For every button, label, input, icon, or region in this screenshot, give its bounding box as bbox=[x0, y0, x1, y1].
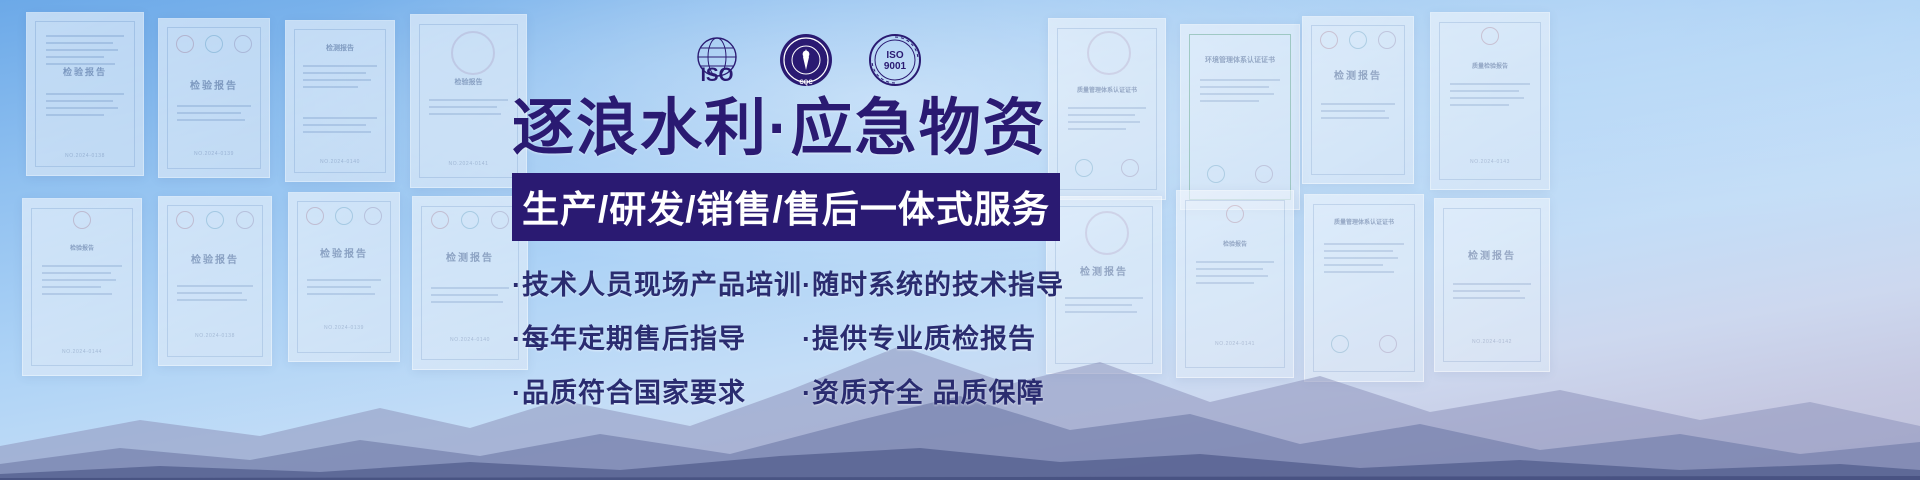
svg-text:ISO: ISO bbox=[701, 65, 734, 86]
benefit-item: ·随时系统的技术指导 bbox=[802, 263, 1062, 302]
certificate-title: 质量检验报告 bbox=[1431, 61, 1549, 70]
svg-text:9001: 9001 bbox=[884, 61, 907, 72]
certificate-subtitle: NO.2024-0141 bbox=[1177, 341, 1293, 347]
certificate-title: 检验报告 bbox=[289, 245, 399, 260]
promo-banner: 检验报告 NO.2024-0138 检验报告 NO.2024-0139 检测报告… bbox=[0, 0, 1920, 480]
banner-copy: 逐浪水利·应急物资 生产/研发/销售/售后一体式服务 ·技术人员现场产品培训 ·… bbox=[512, 96, 1092, 425]
certification-badges: ISO CQC ISO 9001 bbox=[690, 32, 922, 88]
certificate-card: 检测报告 NO.2024-0142 bbox=[1434, 198, 1550, 372]
certificate-subtitle: NO.2024-0140 bbox=[413, 337, 527, 343]
certificate-card: 环境管理体系认证证书 bbox=[1180, 24, 1300, 210]
benefit-list: ·技术人员现场产品培训 ·随时系统的技术指导 ·每年定期售后指导 ·提供专业质检… bbox=[512, 263, 1092, 410]
certificate-title: 检验报告 bbox=[23, 243, 141, 252]
benefit-row: ·技术人员现场产品培训 ·随时系统的技术指导 bbox=[512, 263, 1092, 302]
certificate-card: 检验报告 NO.2024-0139 bbox=[158, 18, 270, 178]
svg-text:ISO: ISO bbox=[886, 50, 903, 61]
banner-subtitle-bar: 生产/研发/销售/售后一体式服务 bbox=[512, 173, 1060, 241]
certificate-title: 检验报告 bbox=[159, 251, 271, 266]
certificate-card: 检验报告 NO.2024-0141 bbox=[410, 14, 527, 188]
certificate-card: 检验报告 NO.2024-0138 bbox=[158, 196, 272, 366]
certificate-title: 检测报告 bbox=[413, 249, 527, 264]
iso-9001-badge: ISO 9001 bbox=[868, 33, 922, 87]
certificate-title: 质量管理体系认证证书 bbox=[1049, 85, 1165, 94]
certificate-card: 检测报告 NO.2024-0140 bbox=[285, 20, 395, 182]
svg-text:CQC: CQC bbox=[799, 80, 813, 86]
certificate-subtitle: NO.2024-0139 bbox=[159, 151, 269, 157]
certificate-subtitle: NO.2024-0143 bbox=[1431, 159, 1549, 165]
certificate-subtitle: NO.2024-0141 bbox=[411, 161, 526, 167]
certificate-subtitle: NO.2024-0140 bbox=[286, 159, 394, 165]
certificate-subtitle: NO.2024-0139 bbox=[289, 325, 399, 331]
certificate-title: 质量管理体系认证证书 bbox=[1305, 217, 1423, 226]
benefit-item: ·技术人员现场产品培训 bbox=[512, 263, 802, 302]
certificate-title: 检测报告 bbox=[1435, 247, 1549, 262]
certificate-title: 检测报告 bbox=[1303, 67, 1413, 82]
certificate-card: 检验报告 NO.2024-0139 bbox=[288, 192, 400, 362]
certificate-card: 检测报告 NO.2024-0140 bbox=[412, 196, 528, 370]
certificate-title: 检验报告 bbox=[1177, 239, 1293, 248]
quality-seal-badge: CQC bbox=[778, 32, 834, 88]
benefit-item: ·每年定期售后指导 bbox=[512, 317, 802, 356]
certificate-subtitle: NO.2024-0138 bbox=[27, 153, 143, 159]
benefit-row: ·品质符合国家要求 ·资质齐全 品质保障 bbox=[512, 371, 1092, 410]
certificate-card: 检验报告 NO.2024-0141 bbox=[1176, 190, 1294, 378]
certificate-title: 检验报告 bbox=[27, 65, 143, 78]
certificate-subtitle: NO.2024-0142 bbox=[1435, 339, 1549, 345]
certificate-title: 检测报告 bbox=[286, 43, 394, 53]
certificate-card: 质量管理体系认证证书 bbox=[1304, 194, 1424, 382]
certificate-subtitle: NO.2024-0144 bbox=[23, 349, 141, 355]
benefit-item: ·品质符合国家要求 bbox=[512, 371, 802, 410]
certificate-card: 检验报告 NO.2024-0144 bbox=[22, 198, 142, 376]
banner-headline: 逐浪水利·应急物资 bbox=[512, 96, 1092, 161]
certificate-card: 检测报告 bbox=[1302, 16, 1414, 184]
benefit-item: ·提供专业质检报告 bbox=[802, 317, 1062, 356]
certificate-title: 检验报告 bbox=[411, 77, 526, 87]
benefit-item: ·资质齐全 品质保障 bbox=[802, 371, 1062, 410]
certificate-subtitle: NO.2024-0138 bbox=[159, 333, 271, 339]
benefit-row: ·每年定期售后指导 ·提供专业质检报告 bbox=[512, 317, 1092, 356]
certificate-title: 检验报告 bbox=[159, 77, 269, 92]
certificate-title: 环境管理体系认证证书 bbox=[1181, 55, 1299, 65]
certificate-card: 检验报告 NO.2024-0138 bbox=[26, 12, 144, 176]
certificate-card: 质量检验报告 NO.2024-0143 bbox=[1430, 12, 1550, 190]
iso-globe-badge: ISO bbox=[690, 33, 744, 87]
